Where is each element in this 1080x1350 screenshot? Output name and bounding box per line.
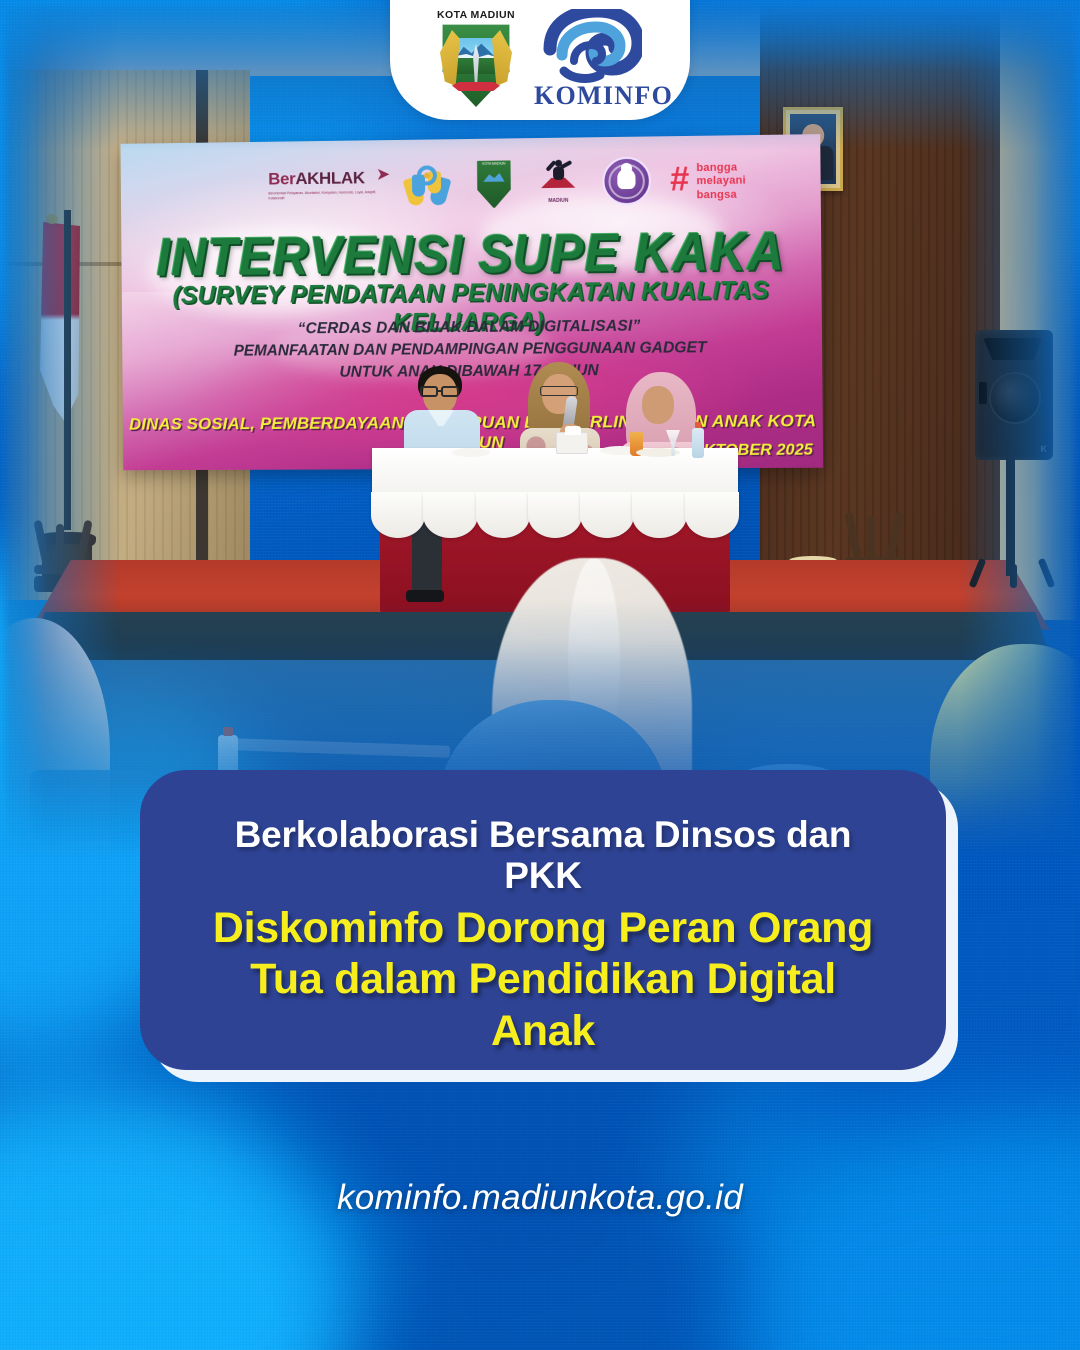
- header-logo-plate: KOTA MADIUN KOMINFO: [390, 0, 690, 120]
- water-bottle: [692, 428, 704, 458]
- kota-madiun-crest-logo: KOTA MADIUN: [475, 158, 513, 209]
- tablecloth-scallops: [372, 492, 738, 538]
- card-kicker: Berkolaborasi Bersama Dinsos dan PKK: [196, 814, 890, 897]
- dp3a-logo: [405, 163, 449, 205]
- kominfo-swirl-icon: [540, 9, 642, 83]
- card-headline: Diskominfo Dorong Peran Orang Tua dalam …: [196, 903, 890, 1058]
- event-photo: BerAKHLAK➤ Berorientasi Pelayanan, Akunt…: [0, 0, 1080, 860]
- bangga-melayani-bangsa-logo: # banggamelayanibangsa: [670, 157, 780, 205]
- website-url[interactable]: kominfo.madiunkota.go.id: [0, 1178, 1080, 1218]
- decorative-chair-right: [845, 512, 903, 566]
- kominfo-wordmark: KOMINFO: [534, 81, 650, 111]
- berakhlak-logo: BerAKHLAK➤ Berorientasi Pelayanan, Akunt…: [268, 168, 385, 202]
- title-card: Berkolaborasi Bersama Dinsos dan PKK Dis…: [140, 770, 946, 1070]
- kota-madiun-crest-caption: KOTA MADIUN: [481, 161, 507, 166]
- crest-label: KOTA MADIUN: [430, 9, 522, 21]
- madiun-city-crest-icon: KOTA MADIUN: [430, 10, 522, 110]
- poster-canvas: BerAKHLAK➤ Berorientasi Pelayanan, Akunt…: [0, 0, 1080, 1350]
- tissue-box: [556, 432, 588, 454]
- berakhlak-tagline: Berorientasi Pelayanan, Akuntabel, Kompe…: [268, 190, 385, 202]
- kominfo-logo: KOMINFO: [534, 9, 650, 111]
- bangga-hash-icon: #: [670, 162, 689, 196]
- madiun-dance-logo: MADIUN: [537, 160, 580, 209]
- table-plate-left: [452, 448, 490, 457]
- madiun-logo-text: MADIUN: [537, 198, 579, 205]
